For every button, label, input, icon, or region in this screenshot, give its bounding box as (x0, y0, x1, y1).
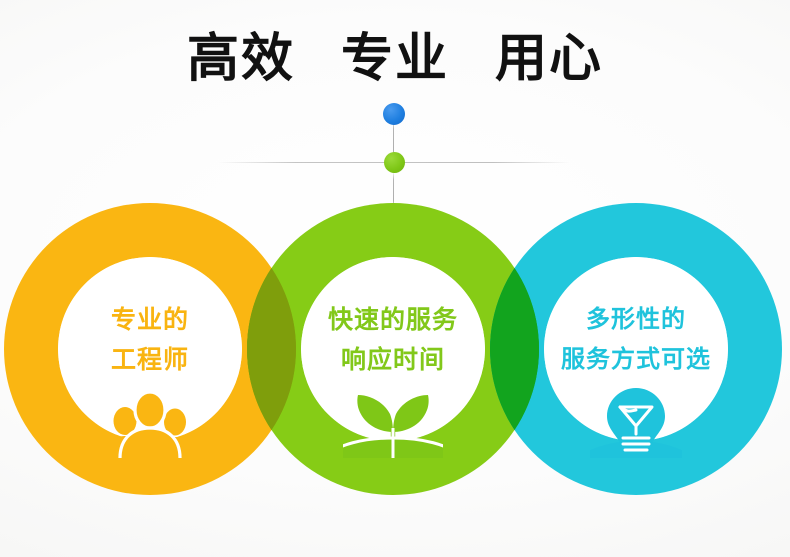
infographic-canvas: 高效专业用心 (0, 0, 790, 557)
venn-rings-graphic (0, 0, 790, 557)
inner-disc-cyan (544, 257, 728, 441)
inner-disc-orange (58, 257, 242, 441)
inner-disc-green (301, 257, 485, 441)
